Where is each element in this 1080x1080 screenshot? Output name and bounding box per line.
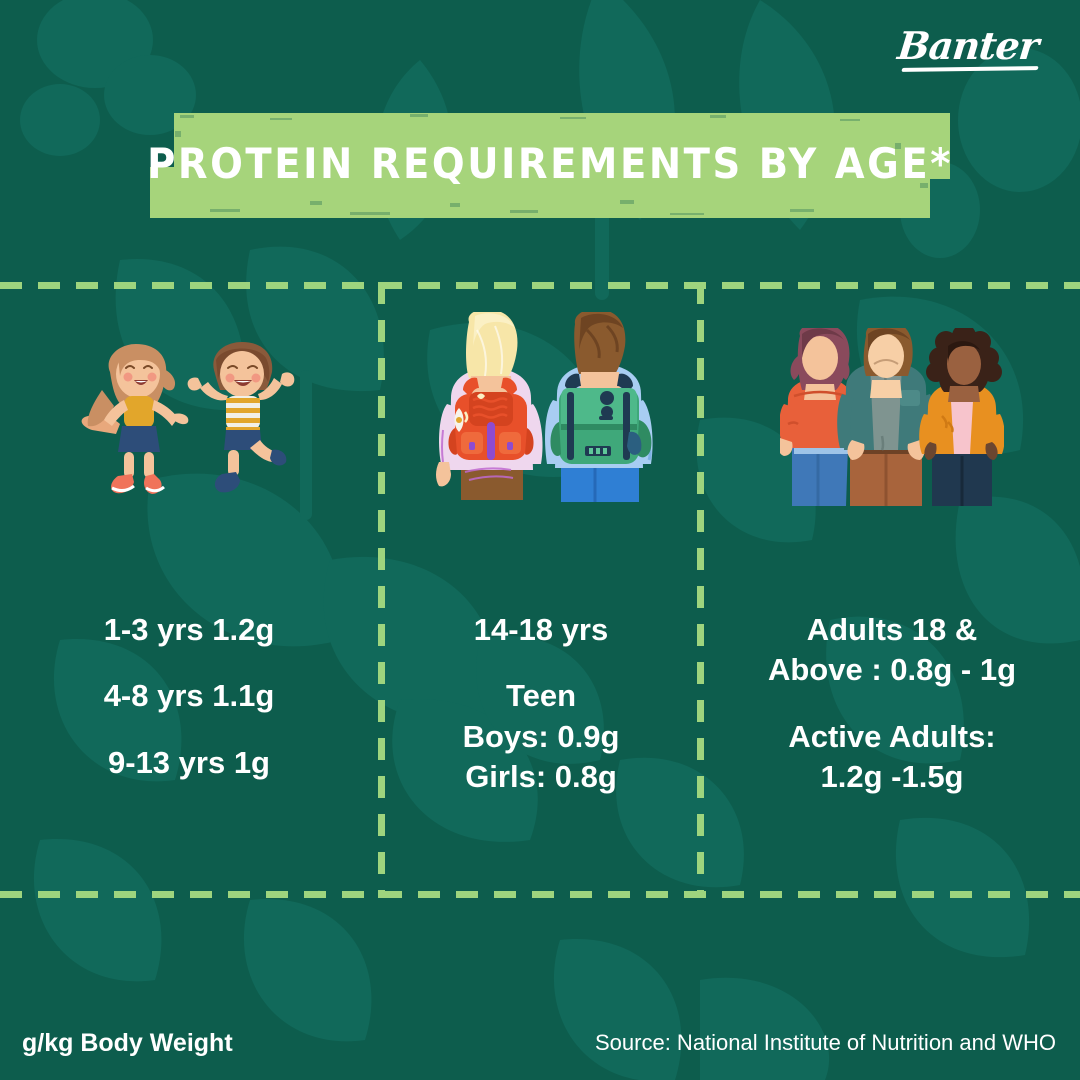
infographic-poster: Banter [0,0,1080,1080]
fact-line: Girls: 0.8g [385,757,697,797]
brand-logo: Banter [858,26,1038,84]
fact-block: Adults 18 & Above : 0.8g - 1g [704,610,1080,691]
fact-line: 14-18 yrs [385,610,697,650]
facts-teens: 14-18 yrs Teen Boys: 0.9g Girls: 0.8g [385,610,697,797]
two-children-jumping-illustration [0,330,378,600]
fact-block: Active Adults: 1.2g -1.5g [704,717,1080,798]
page-title: PROTEIN REQUIREMENTS BY AGE* [142,111,958,216]
title-banner: PROTEIN REQUIREMENTS BY AGE* [150,113,950,218]
logo-underline-stroke [901,66,1038,72]
brand-name: Banter [856,26,1040,66]
fact-block: Teen Boys: 0.9g Girls: 0.8g [385,676,697,797]
fact-line: 9-13 yrs 1g [0,743,378,783]
fact-line: 4-8 yrs 1.1g [0,676,378,716]
fact-block: 1-3 yrs 1.2g [0,610,378,650]
column-teens: 14-18 yrs Teen Boys: 0.9g Girls: 0.8g [385,282,697,891]
facts-children: 1-3 yrs 1.2g 4-8 yrs 1.1g 9-13 yrs 1g [0,610,378,783]
divider-bottom [0,891,1080,898]
fact-block: 4-8 yrs 1.1g [0,676,378,716]
fact-line: 1.2g -1.5g [704,757,1080,797]
fact-line: Above : 0.8g - 1g [704,650,1080,690]
fact-block: 14-18 yrs [385,610,697,650]
fact-line: Active Adults: [704,717,1080,757]
divider-vertical-two [697,282,704,898]
two-teens-with-backpacks-illustration [385,312,697,602]
column-children: 1-3 yrs 1.2g 4-8 yrs 1.1g 9-13 yrs 1g [0,282,378,891]
fact-line: Boys: 0.9g [385,717,697,757]
footer-source: Source: National Institute of Nutrition … [595,1030,1056,1056]
fact-block: 9-13 yrs 1g [0,743,378,783]
three-adults-standing-illustration [704,328,1080,588]
fact-line: 1-3 yrs 1.2g [0,610,378,650]
fact-line: Teen [385,676,697,716]
fact-line: Adults 18 & [704,610,1080,650]
divider-vertical-one [378,282,385,898]
footer-unit-note: g/kg Body Weight [22,1029,233,1058]
column-adults: Adults 18 & Above : 0.8g - 1g Active Adu… [704,282,1080,891]
facts-adults: Adults 18 & Above : 0.8g - 1g Active Adu… [704,610,1080,797]
